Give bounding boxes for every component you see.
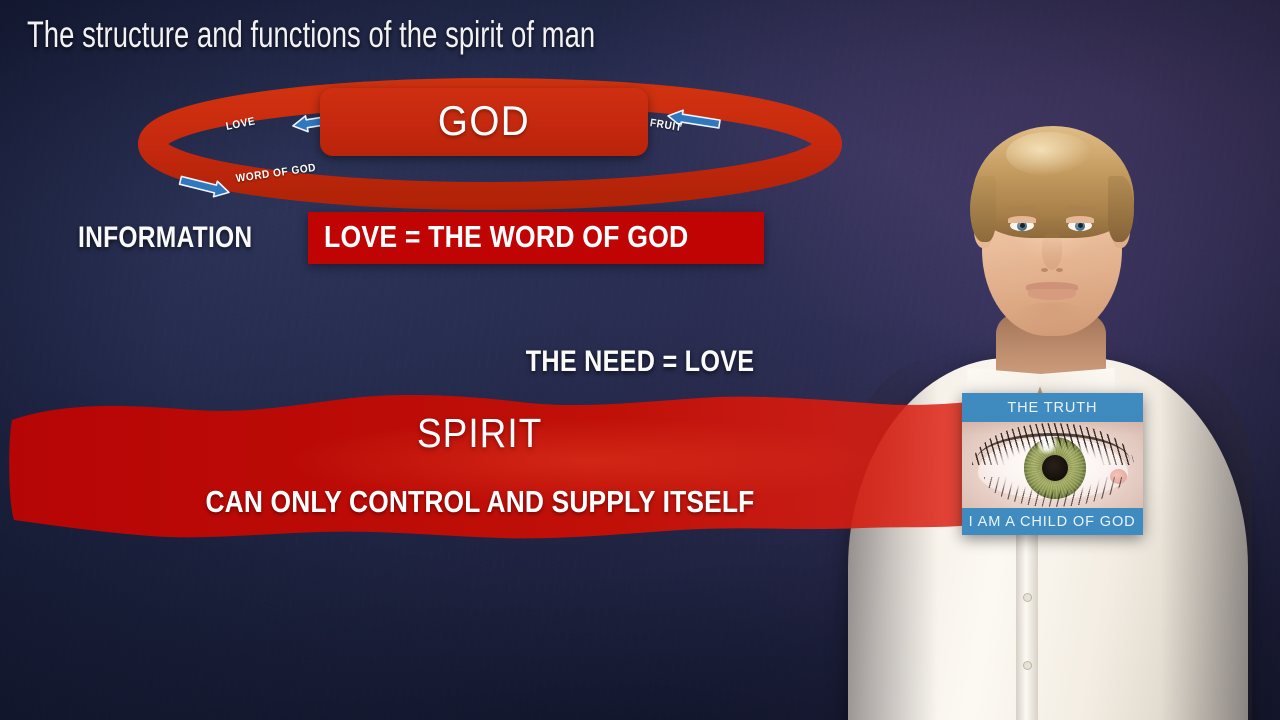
lower-lip: [1028, 289, 1076, 300]
presenter-chin: [1016, 302, 1088, 328]
truth-card-top-band: THE TRUTH: [962, 393, 1143, 422]
information-statement-box: LOVE = THE WORD OF GOD: [308, 212, 764, 264]
shirt-button: [1024, 594, 1031, 601]
truth-card-top-label: THE TRUTH: [1007, 393, 1097, 422]
spirit-heading: SPIRIT: [0, 410, 960, 457]
information-label: INFORMATION: [78, 221, 252, 255]
spirit-heading-text: SPIRIT: [417, 410, 542, 457]
eye-lower-lashes: [984, 477, 1124, 507]
need-line-text: THE NEED = LOVE: [526, 345, 755, 379]
eyelid-left: [1008, 216, 1036, 223]
spirit-subheading-text: CAN ONLY CONTROL AND SUPPLY ITSELF: [206, 484, 755, 520]
nostril-right: [1056, 268, 1063, 272]
eyelid-right: [1066, 216, 1094, 223]
eye-pupil: [1078, 223, 1083, 228]
hair-highlight: [1006, 132, 1092, 176]
god-label: GOD: [333, 97, 635, 145]
hair-side-left: [970, 176, 996, 242]
shirt-shadow-right: [1160, 358, 1252, 720]
hair-side-right: [1108, 176, 1134, 242]
truth-card-bottom-band: I AM A CHILD OF GOD: [962, 508, 1143, 535]
eye-pupil: [1020, 223, 1025, 228]
need-line: THE NEED = LOVE: [0, 345, 1280, 379]
nostril-left: [1041, 268, 1048, 272]
information-row: INFORMATION LOVE = THE WORD OF GOD: [78, 212, 764, 264]
god-box: GOD: [320, 88, 648, 156]
presenter-nose: [1042, 232, 1062, 270]
spirit-subheading: CAN ONLY CONTROL AND SUPPLY ITSELF: [0, 484, 960, 520]
god-cycle-diagram: LOVE FRUIT WORD OF GOD GOD: [140, 78, 840, 208]
information-statement-text: LOVE = THE WORD OF GOD: [324, 219, 688, 255]
truth-card: THE TRUTH I AM A CHILD OF GOD: [962, 393, 1143, 535]
shirt-button: [1024, 662, 1031, 669]
slide-title: The structure and functions of the spiri…: [27, 14, 595, 56]
slide-canvas: The structure and functions of the spiri…: [0, 0, 1280, 720]
truth-card-bottom-label: I AM A CHILD OF GOD: [969, 508, 1136, 535]
